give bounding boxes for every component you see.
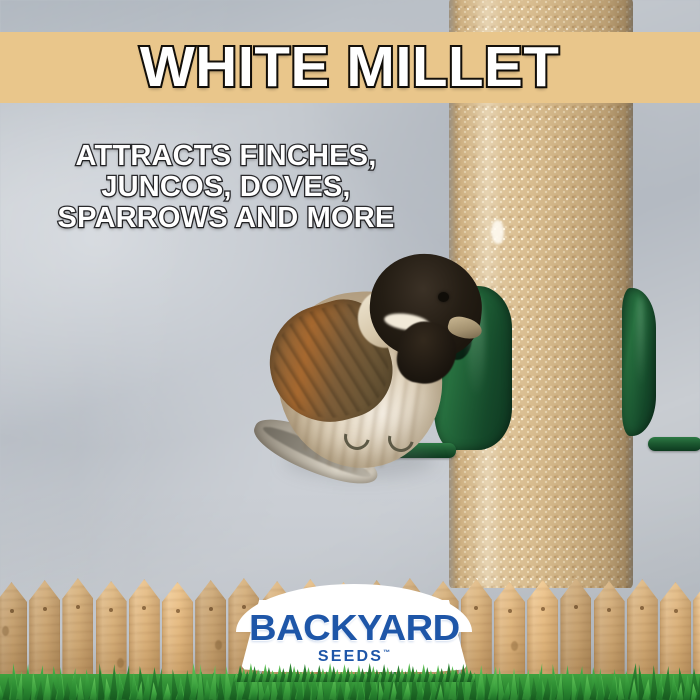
bird-illustration [252, 246, 492, 516]
fence-nail [176, 609, 180, 613]
fence-nail [209, 607, 213, 611]
fence-nail [10, 609, 14, 613]
logo-foreground-grass [233, 662, 475, 682]
subtitle-line-1: ATTRACTS FINCHES, [16, 141, 436, 172]
title-banner: WHITE MILLET [0, 32, 700, 103]
subtitle-line-3: SPARROWS AND MORE [16, 203, 436, 234]
fence-nail [640, 606, 644, 610]
fence-nail [76, 605, 80, 609]
product-image: WHITE MILLET ATTRACTS FINCHES, JUNCOS, D… [0, 0, 700, 700]
feeder-port-right [622, 288, 656, 436]
fence-nail [607, 608, 611, 612]
subtitle-block: ATTRACTS FINCHES, JUNCOS, DOVES, SPARROW… [16, 141, 436, 234]
wood-knot [215, 640, 222, 650]
fence-nail [541, 607, 545, 611]
port-gloss-right [637, 297, 644, 389]
logo-brand-text: BACKYARD [249, 610, 460, 646]
fence-nail [674, 609, 678, 613]
fence-nail [109, 608, 113, 612]
wood-knot [2, 626, 9, 636]
trademark-symbol: ™ [383, 649, 390, 656]
fence-nail [142, 606, 146, 610]
wood-knot [511, 641, 518, 651]
page-title: WHITE MILLET [140, 39, 559, 96]
fence-nail [508, 609, 512, 613]
brand-logo: BACKYARD SEEDS™ [241, 600, 467, 672]
perch-right [648, 437, 700, 451]
fence-nail [474, 606, 478, 610]
bird-eye [438, 292, 449, 302]
fence-nail [574, 605, 578, 609]
subtitle-line-2: JUNCOS, DOVES, [16, 172, 436, 203]
fence-nail [43, 607, 47, 611]
